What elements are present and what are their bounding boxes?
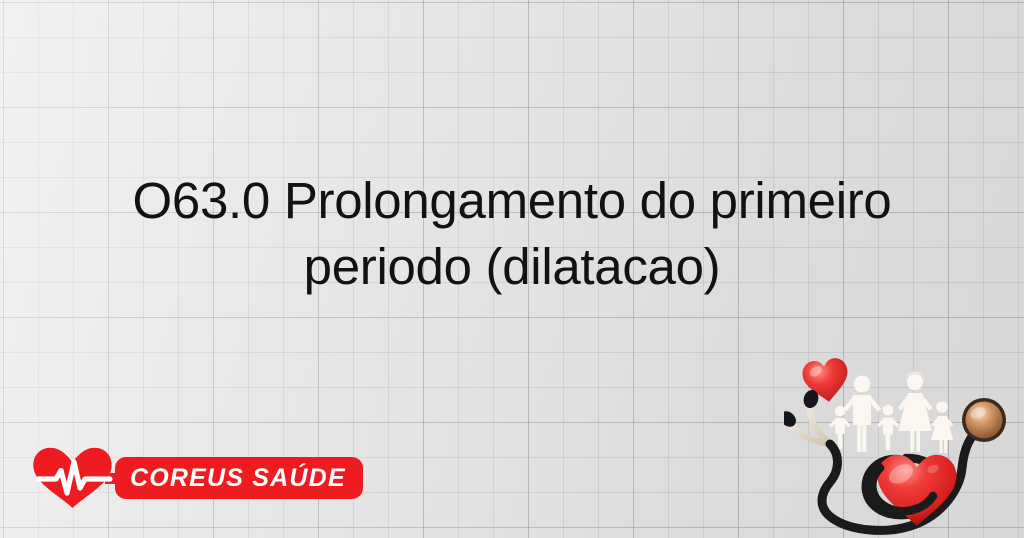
medical-collage	[784, 348, 1020, 538]
stethoscope-chestpiece	[962, 398, 1006, 442]
family-figure-woman	[898, 372, 933, 452]
brand-logo[interactable]: COREUS SAÚDE	[30, 446, 363, 510]
title-line-2: periodo (dilatacao)	[40, 234, 984, 300]
family-figure-man	[843, 376, 881, 452]
family-figure-child	[877, 405, 899, 451]
page-title: O63.0 Prolongamento do primeiro periodo …	[0, 168, 1024, 300]
family-figure-girl	[931, 401, 953, 453]
heart-with-ekg-icon	[30, 446, 114, 510]
family-silhouette-icon	[829, 372, 953, 453]
image-card: O63.0 Prolongamento do primeiro periodo …	[0, 0, 1024, 538]
title-line-1: O63.0 Prolongamento do primeiro	[40, 168, 984, 234]
brand-badge: COREUS SAÚDE	[115, 457, 363, 499]
brand-badge-label: COREUS SAÚDE	[130, 466, 346, 491]
